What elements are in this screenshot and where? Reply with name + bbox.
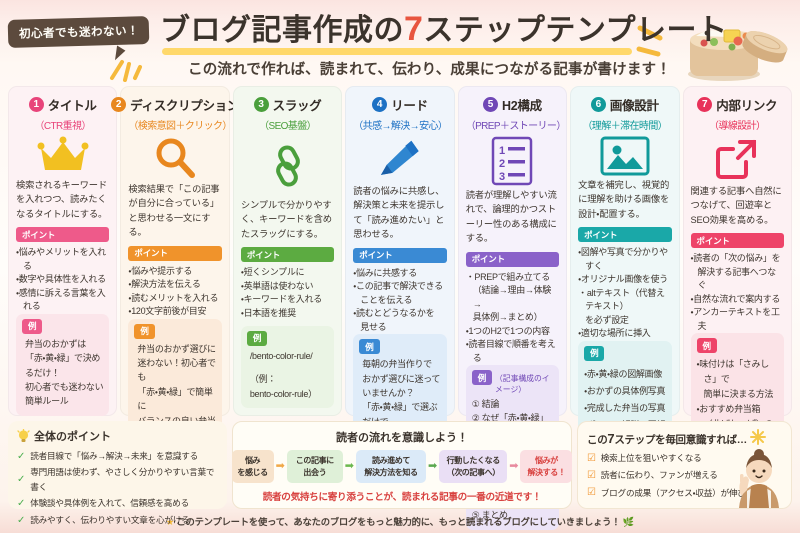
card-1-point-label: ポイント [16, 227, 109, 242]
card-3-example-label: 例 [247, 331, 267, 346]
overall-points-title: 全体のポイント [17, 428, 218, 444]
flow-steps: 悩み を感じる ➡ この記事に 出会う ➡ 読み進めて 解決方法を知る ➡ 行動… [242, 450, 562, 483]
check-item: ✓読者目線で「悩み→解決→未来」を意識する [17, 448, 218, 465]
point-item-cont: 見せる [353, 321, 446, 335]
flow-step-line1: 悩みが [523, 455, 569, 467]
sparkle-icon [108, 56, 144, 86]
card-step-6[interactable]: 6 画像設計 （理解＋滞在時間） 文章を補完し、視覚的に理解を助ける画像を設計・… [570, 86, 679, 416]
card-step-4[interactable]: 4 リード （共感→解決→安心） 読者の悩みに共感し、解決策と未来を提示して「読… [345, 86, 454, 416]
magnifier-icon [128, 136, 221, 180]
card-5-example-note: （記事構成のイメージ） [495, 373, 553, 395]
flow-step: 読み進めて 解決方法を知る [356, 450, 426, 483]
point-item: PREPで組み立てる [466, 271, 559, 285]
svg-text:3: 3 [499, 171, 505, 183]
card-3-points: 短くシンプルに 英単語は使わない キーワードを入れる 日本語を推奨 [241, 266, 334, 320]
point-item: 自然な流れで案内する [691, 293, 784, 307]
flow-step-line1: 読み進めて [359, 455, 423, 467]
card-6-subtitle: （理解＋滞在時間） [578, 117, 671, 132]
crown-icon [16, 136, 109, 176]
check-label: 読者目線で「悩み→解決→未来」を意識する [30, 449, 198, 464]
card-step-7[interactable]: 7 内部リンク （導線設計） 関連する記事へ自然につなげて、回遊率とSEO効果を… [683, 86, 792, 416]
result-label: 検索上位を狙いやすくなる [601, 451, 702, 466]
card-7-number: 7 [697, 97, 712, 112]
card-4-head: 4 リード （共感→解決→安心） [353, 95, 446, 132]
flow-step-line2: を感じる [235, 467, 271, 479]
card-2-example-label: 例 [134, 324, 154, 339]
flow-step: 悩みが 解決する！ [520, 450, 572, 483]
arrow-icon: ➡ [276, 461, 285, 472]
flow-step: 行動したくなる （次の記事へ） [439, 450, 507, 483]
point-item: アンカーテキストを工夫 [691, 306, 784, 333]
card-7-example-label: 例 [697, 338, 717, 353]
point-item: 読者の「次の悩み」を [691, 252, 784, 266]
svg-text:1: 1 [499, 145, 505, 157]
card-5-point-label: ポイント [466, 252, 559, 267]
point-item: 悩みに共感する [353, 267, 446, 281]
arrow-icon: ➡ [345, 461, 354, 472]
example-line: 簡単ルール [22, 394, 103, 408]
card-5-head: 5 H2構成 （PREP＋ストーリー） [466, 95, 559, 132]
card-2-subtitle: （検索意図＋クリック） [128, 117, 221, 132]
point-item-cont: （結論→理由→体験→ [466, 284, 559, 311]
point-item: altテキスト（代替えテキスト） [578, 287, 671, 314]
point-item: 120文字前後が目安 [128, 305, 221, 319]
card-3-head: 3 スラッグ （SEO基盤） [241, 95, 334, 132]
overall-points-label: 全体のポイント [34, 428, 111, 444]
result-label: 読者に伝わり、ファンが増える [601, 468, 718, 483]
check-label: 専門用語は使わず、やさしく分かりやすい言葉で書く [30, 465, 218, 495]
card-7-head: 7 内部リンク （導線設計） [691, 95, 784, 132]
card-1-example-label: 例 [22, 319, 42, 334]
numbered-list-icon: 123 [466, 136, 559, 186]
check-icon: ✓ [17, 495, 25, 512]
check-icon: ✓ [17, 448, 25, 465]
example-bullet: 味付けは「さみしさ」で [697, 357, 778, 387]
card-7-subtitle: （導線設計） [691, 117, 784, 132]
card-3-title: スラッグ [273, 95, 322, 114]
card-3-point-label: ポイント [241, 247, 334, 262]
result-title: この7ステップを毎回意識すれば… [587, 429, 782, 447]
card-5-desc: 読者が理解しやすい流れで、論理的かつストーリー性のある構成にする。 [466, 188, 559, 246]
check-label: 読みやすく、伝わりやすい文章を心がける [30, 513, 189, 528]
example-line: 弁当のおかずは [22, 337, 103, 351]
flow-step-line2: 出会う [290, 467, 340, 479]
example-line: 弁当のおかず選びに [134, 342, 215, 356]
leaf-icon: 🌿 [623, 517, 634, 527]
card-step-3[interactable]: 3 スラッグ （SEO基盤） シンプルで分かりやすく、キーワードを含めたスラッグ… [233, 86, 342, 416]
point-item: 適切な場所に挿入 [578, 327, 671, 341]
flow-title: 読者の流れを意識しよう！ [242, 429, 562, 445]
flow-step-line1: この記事に [290, 455, 340, 467]
point-item: 感情に訴える言葉を入れる [16, 287, 109, 314]
footer-text: このテンプレートを使って、あなたのブログをもっと魅力的に、もっと読まれるブログに… [176, 517, 620, 527]
checkbox-icon: ☑ [587, 484, 596, 501]
card-step-2[interactable]: 2 ディスクリプション （検索意図＋クリック） 検索結果で「この記事が自分に合っ… [120, 86, 229, 416]
flow-step: この記事に 出会う [287, 450, 343, 483]
header: 初心者でも迷わない！ ブログ記事作成の7ステップテンプレート この流れで作れば、… [8, 6, 792, 84]
example-line: 初心者でも迷わない [22, 380, 103, 394]
card-2-head: 2 ディスクリプション （検索意図＋クリック） [128, 95, 221, 132]
card-2-title: ディスクリプション [130, 95, 239, 114]
example-line: おかず選びに迷って [359, 372, 440, 386]
flow-step: 悩み を感じる [232, 450, 274, 483]
flow-step-line2: 解決方法を知る [359, 467, 423, 479]
flow-step-line2: 解決する！ [523, 467, 569, 479]
card-2-points: 悩みや提示する 解決方法を伝える 読むメリットを入れる 120文字前後が目安 [128, 265, 221, 319]
point-item: 解決方法を伝える [128, 278, 221, 292]
card-1-desc: 検索されるキーワードを入れつつ、読みたくなるタイトルにする。 [16, 178, 109, 221]
example-line: 「赤・黄・緑」で決めるだけ！ [22, 351, 103, 380]
checkbox-icon: ☑ [587, 450, 596, 467]
example-line: （例： [247, 372, 328, 386]
point-item: 読むメリットを入れる [128, 292, 221, 306]
card-5-title: H2構成 [502, 95, 542, 114]
step-cards: 1 タイトル （CTR重視） 検索されるキーワードを入れつつ、読みたくなるタイト… [8, 86, 792, 416]
card-5-number: 5 [483, 97, 498, 112]
arrow-icon: ➡ [428, 461, 437, 472]
point-item: オリジナル画像を使う [578, 273, 671, 287]
link-chain-icon [241, 136, 334, 196]
card-2-desc: 検索結果で「この記事が自分に合っている」と思わせる一文にする。 [128, 182, 221, 240]
point-item: キーワードを入れる [241, 293, 334, 307]
card-4-point-label: ポイント [353, 248, 446, 263]
title-pre: ブログ記事作成の [160, 14, 404, 47]
point-item: 悩みや提示する [128, 265, 221, 279]
card-step-5[interactable]: 5 H2構成 （PREP＋ストーリー） 123 読者が理解しやすい流れで、論理的… [458, 86, 567, 416]
card-1-title: タイトル [48, 95, 97, 114]
badge-wrapper: 初心者でも迷わない！ [8, 10, 156, 46]
point-item: 読者目線で順番を考える [466, 338, 559, 365]
reader-flow-panel: 読者の流れを意識しよう！ 悩み を感じる ➡ この記事に 出会う ➡ 読み進めて… [232, 421, 572, 509]
result-title-pre: この [587, 434, 607, 446]
point-item: 日本語を推奨 [241, 307, 334, 321]
arrow-icon: ➡ [509, 461, 518, 472]
infographic-page: 初心者でも迷わない！ ブログ記事作成の7ステップテンプレート この流れで作れば、… [8, 6, 792, 527]
example-line: 「赤・黄・緑」で簡単に [134, 385, 215, 414]
point-item: 数字や具体性を入れる [16, 273, 109, 287]
flow-step-line1: 悩み [235, 455, 271, 467]
point-item: 読むとどうなるかを [353, 307, 446, 321]
point-item: 1つのH2で1つの内容 [466, 325, 559, 339]
title-number: 7 [404, 10, 423, 48]
check-item: ✓専門用語は使わず、やさしく分かりやすい言葉で書く [17, 465, 218, 495]
point-item: この記事で解決できる [353, 280, 446, 294]
ordered-item: ① 結論 [472, 398, 553, 412]
card-4-subtitle: （共感→解決→安心） [353, 117, 446, 132]
title-post: ステップテンプレート [423, 14, 727, 47]
example-bullet-cont: 簡単に決まる方法 [697, 387, 778, 402]
point-item: 短くシンプルに [241, 266, 334, 280]
check-item: ✓体験談や具体例を入れて、信頼感を高める [17, 495, 218, 512]
title-underline [162, 48, 632, 55]
card-6-example-label: 例 [584, 346, 604, 361]
card-3-example: 例 /bento-color-rule/ （例： bento-color-rul… [241, 326, 334, 408]
card-7-desc: 関連する記事へ自然につなげて、回遊率とSEO効果を高める。 [691, 184, 784, 227]
card-1-subtitle: （CTR重視） [16, 117, 109, 132]
card-6-points: 図解や写真で分かりやすく オリジナル画像を使う altテキスト（代替えテキスト）… [578, 246, 671, 341]
image-photo-icon [578, 136, 671, 176]
external-link-icon [691, 136, 784, 182]
overall-points-panel: 全体のポイント ✓読者目線で「悩み→解決→未来」を意識する ✓専門用語は使わず、… [8, 421, 227, 509]
card-6-head: 6 画像設計 （理解＋滞在時間） [578, 95, 671, 132]
example-bullet: おかずの具体例写真 [584, 383, 665, 400]
card-5-subtitle: （PREP＋ストーリー） [466, 117, 559, 132]
card-3-number: 3 [254, 97, 269, 112]
card-1-head: 1 タイトル （CTR重視） [16, 95, 109, 132]
card-4-title: リード [391, 95, 428, 114]
card-4-example-label: 例 [359, 339, 379, 354]
card-4-number: 4 [372, 97, 387, 112]
point-item: 図解や写真で分かりやすく [578, 246, 671, 273]
flow-footer: 読者の気持ちに寄り添うことが、読まれる記事の一番の近道です！ [242, 489, 562, 503]
pencil-icon [353, 136, 446, 182]
lightbulb-icon [17, 429, 30, 444]
svg-text:2: 2 [499, 158, 505, 170]
overall-points-list: ✓読者目線で「悩み→解決→未来」を意識する ✓専門用語は使わず、やさしく分かりや… [17, 448, 218, 529]
card-2-number: 2 [111, 97, 126, 112]
result-panel: この7ステップを毎回意識すれば… ☑検索上位を狙いやすくなる ☑読者に伝わり、フ… [577, 421, 792, 509]
example-bullet: 完成した弁当の写真 [584, 400, 665, 417]
card-7-points: 読者の「次の悩み」を 解決する記事へつなぐ 自然な流れで案内する アンカーテキス… [691, 252, 784, 333]
card-4-points: 悩みに共感する この記事で解決できる ことを伝える 読むとどうなるかを 見せる [353, 267, 446, 335]
example-bullet: 赤・黄・緑の図解画像 [584, 366, 665, 383]
example-line: 毎朝の弁当作りで [359, 357, 440, 371]
header-badge: 初心者でも迷わない！ [8, 16, 150, 48]
bottom-panels: 全体のポイント ✓読者目線で「悩み→解決→未来」を意識する ✓専門用語は使わず、… [8, 421, 792, 509]
card-6-desc: 文章を補完し、視覚的に理解を助ける画像を設計・配置する。 [578, 178, 671, 221]
checkbox-icon: ☑ [587, 467, 596, 484]
card-6-point-label: ポイント [578, 227, 671, 242]
point-item-cont: 具体例→まとめ） [466, 311, 559, 325]
check-icon: ✓ [17, 512, 25, 529]
flow-step-line1: 行動したくなる [442, 455, 504, 467]
card-6-title: 画像設計 [610, 95, 659, 114]
card-5-points: PREPで組み立てる （結論→理由→体験→ 具体例→まとめ） 1つのH2で1つの… [466, 271, 559, 366]
card-step-1[interactable]: 1 タイトル （CTR重視） 検索されるキーワードを入れつつ、読みたくなるタイト… [8, 86, 117, 416]
check-item: ✓読みやすく、伝わりやすい文章を心がける [17, 512, 218, 529]
check-label: 体験談や具体例を入れて、信頼感を高める [30, 496, 189, 511]
card-4-desc: 読者の悩みに共感し、解決策と未来を提示して「読み進めたい」と思わせる。 [353, 184, 446, 242]
point-item: 悩みやメリットを入れる [16, 246, 109, 273]
person-pointing-icon [731, 446, 787, 508]
example-spacer [247, 363, 328, 372]
card-7-title: 内部リンク [716, 95, 777, 114]
point-item: 英単語は使わない [241, 280, 334, 294]
flow-step-line2: （次の記事へ） [442, 467, 504, 479]
example-line: いませんか？ [359, 386, 440, 400]
check-icon: ✓ [17, 471, 25, 488]
page-title: ブログ記事作成の7ステップテンプレート [160, 10, 728, 48]
card-5-example-label: 例 [472, 370, 492, 385]
card-3-desc: シンプルで分かりやすく、キーワードを含めたスラッグにする。 [241, 198, 334, 241]
sparkle-icon [750, 429, 766, 445]
card-7-point-label: ポイント [691, 233, 784, 248]
point-item-cont: を必ず設定 [578, 314, 671, 328]
point-item-cont: 解決する記事へつなぐ [691, 266, 784, 293]
card-3-subtitle: （SEO基盤） [241, 117, 334, 132]
point-item-cont: ことを伝える [353, 294, 446, 308]
card-1-example: 例 弁当のおかずは 「赤・黄・緑」で決めるだけ！ 初心者でも迷わない 簡単ルール [16, 314, 109, 416]
example-line: /bento-color-rule/ [247, 349, 328, 363]
result-title-post: ステップを毎回意識すれば… [614, 434, 747, 446]
card-6-number: 6 [591, 97, 606, 112]
example-line: 迷わない！初心者でも [134, 356, 215, 385]
card-1-number: 1 [29, 97, 44, 112]
card-1-points: 悩みやメリットを入れる 数字や具体性を入れる 感情に訴える言葉を入れる [16, 246, 109, 314]
card-2-point-label: ポイント [128, 246, 221, 261]
example-line: bento-color-rule） [247, 387, 328, 401]
example-bullet: おすすめ弁当箱 [697, 402, 778, 417]
